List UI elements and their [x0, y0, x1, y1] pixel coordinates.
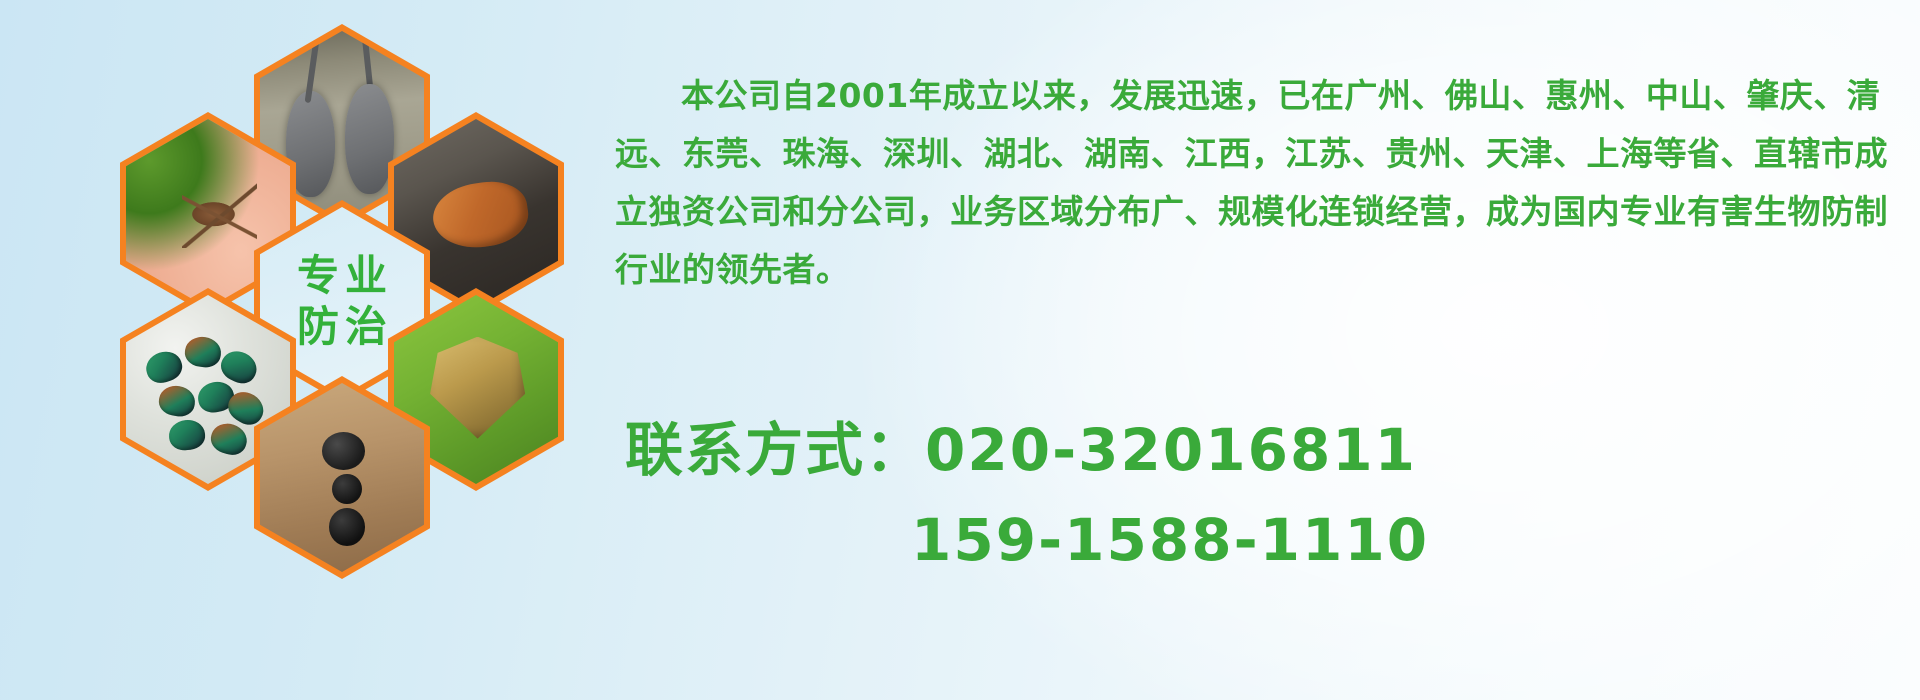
contact-phone-secondary[interactable]: 159-1588-1110	[625, 495, 1825, 585]
hexagon-photo-cluster: 专业 防治	[92, 8, 592, 568]
slogan-line-1: 专业	[291, 254, 393, 298]
ant-photo	[260, 383, 424, 572]
fly-icon	[142, 347, 186, 387]
company-description-text: 本公司自2001年成立以来，发展迅速，已在广州、佛山、惠州、中山、肇庆、清远、东…	[615, 67, 1905, 299]
ant-thorax-icon	[332, 474, 362, 504]
contact-block: 联系方式：020-32016811 159-1588-1110	[625, 405, 1825, 585]
contact-phone-primary[interactable]: 020-32016811	[925, 416, 1417, 484]
company-description: 本公司自2001年成立以来，发展迅速，已在广州、佛山、惠州、中山、肇庆、清远、东…	[615, 34, 1905, 332]
hex-tile-inner	[260, 383, 424, 572]
rat-tail-icon	[305, 38, 320, 102]
fly-icon	[156, 383, 197, 419]
fly-icon	[167, 418, 206, 452]
fly-icon	[183, 334, 223, 369]
contact-primary-line: 联系方式：020-32016811	[625, 405, 1825, 495]
rat-tail-icon	[362, 35, 375, 100]
contact-label: 联系方式：	[625, 416, 925, 484]
slogan-line-2: 防治	[291, 305, 393, 349]
fly-icon	[207, 419, 251, 459]
pest-control-promo-banner: 专业 防治	[0, 0, 1920, 700]
ant-abdomen-icon	[329, 508, 365, 546]
